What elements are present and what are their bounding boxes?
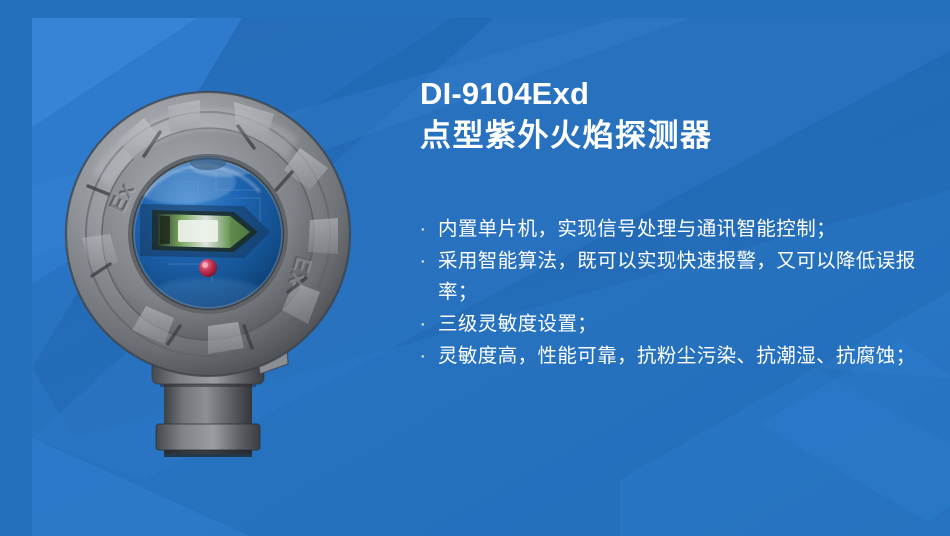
feature-text: 三级灵敏度设置； [438, 313, 597, 335]
bullet-icon: · [413, 214, 433, 245]
list-item: · 灵敏度高，性能可靠，抗粉尘污染、抗潮湿、抗腐蚀； [412, 341, 950, 372]
product-model: DI-9104Exd [420, 76, 940, 113]
list-item: · 采用智能算法，既可以实现快速报警，又可以降低误报率； [412, 246, 950, 308]
bullet-icon: · [413, 246, 433, 277]
feature-text: 采用智能算法，既可以实现快速报警，又可以降低误报率； [438, 250, 916, 303]
title-block: DI-9104Exd 点型紫外火焰探测器 [420, 76, 940, 154]
content-column: DI-9104Exd 点型紫外火焰探测器 · 内置单片机，实现信号处理与通讯智能… [412, 0, 950, 536]
feature-text: 内置单片机，实现信号处理与通讯智能控制； [438, 218, 836, 240]
list-item: · 内置单片机，实现信号处理与通讯智能控制； [412, 214, 950, 245]
bullet-icon: · [413, 309, 433, 340]
status-led [199, 259, 217, 277]
page-title: 点型紫外火焰探测器 [420, 117, 940, 155]
bullet-icon: · [413, 341, 433, 372]
feature-text: 灵敏度高，性能可靠，抗粉尘污染、抗潮湿、抗腐蚀； [438, 345, 916, 367]
product-banner: Ex Ex Ex Ex [0, 0, 950, 536]
list-item: · 三级灵敏度设置； [412, 309, 950, 340]
feature-list: · 内置单片机，实现信号处理与通讯智能控制； · 采用智能算法，既可以实现快速报… [412, 214, 950, 373]
flame-detector-image: Ex Ex Ex Ex [48, 86, 378, 486]
